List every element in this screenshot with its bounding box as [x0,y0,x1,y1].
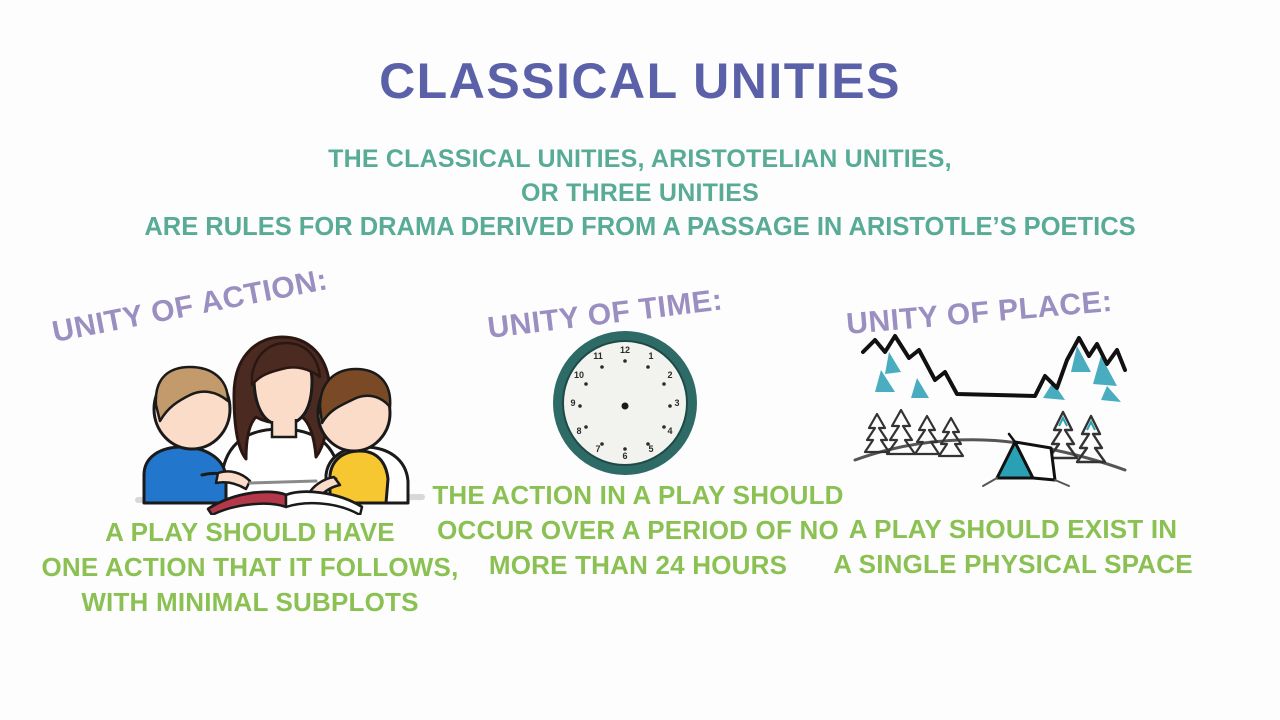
family-reading-illustration [130,325,430,515]
svg-text:2: 2 [667,370,672,380]
svg-text:12: 12 [620,345,630,355]
infographic-canvas: CLASSICAL UNITIES THE CLASSICAL UNITIES,… [0,0,1280,720]
page-title: CLASSICAL UNITIES [0,52,1280,110]
clock-illustration: 12 1 2 3 4 5 6 7 8 9 10 11 [540,325,710,485]
body-line: ONE ACTION THAT IT FOLLOWS, [28,550,472,585]
body-text-unity-of-time: THE ACTION IN A PLAY SHOULD OCCUR OVER A… [428,478,848,583]
svg-text:11: 11 [593,351,603,361]
subtitle-line-1: THE CLASSICAL UNITIES, ARISTOTELIAN UNIT… [0,142,1280,176]
body-line: WITH MINIMAL SUBPLOTS [28,585,472,620]
svg-text:10: 10 [574,370,584,380]
svg-text:8: 8 [576,426,581,436]
subtitle-block: THE CLASSICAL UNITIES, ARISTOTELIAN UNIT… [0,142,1280,244]
svg-text:3: 3 [674,398,679,408]
subtitle-line-2: OR THREE UNITIES [0,176,1280,210]
svg-text:4: 4 [667,426,672,436]
body-line: MORE THAN 24 HOURS [428,548,848,583]
body-line: A SINGLE PHYSICAL SPACE [818,547,1208,582]
svg-text:5: 5 [648,444,653,454]
svg-text:7: 7 [595,444,600,454]
mountain-camp-illustration [845,330,1140,495]
body-line: OCCUR OVER A PERIOD OF NO [428,513,848,548]
subtitle-line-3: ARE RULES FOR DRAMA DERIVED FROM A PASSA… [0,210,1280,244]
svg-text:9: 9 [570,398,575,408]
svg-text:1: 1 [648,351,653,361]
body-text-unity-of-place: A PLAY SHOULD EXIST IN A SINGLE PHYSICAL… [818,512,1208,582]
body-line: THE ACTION IN A PLAY SHOULD [428,478,848,513]
body-line: A PLAY SHOULD EXIST IN [818,512,1208,547]
body-line: A PLAY SHOULD HAVE [28,515,472,550]
svg-text:6: 6 [622,451,627,461]
body-text-unity-of-action: A PLAY SHOULD HAVE ONE ACTION THAT IT FO… [28,515,472,620]
